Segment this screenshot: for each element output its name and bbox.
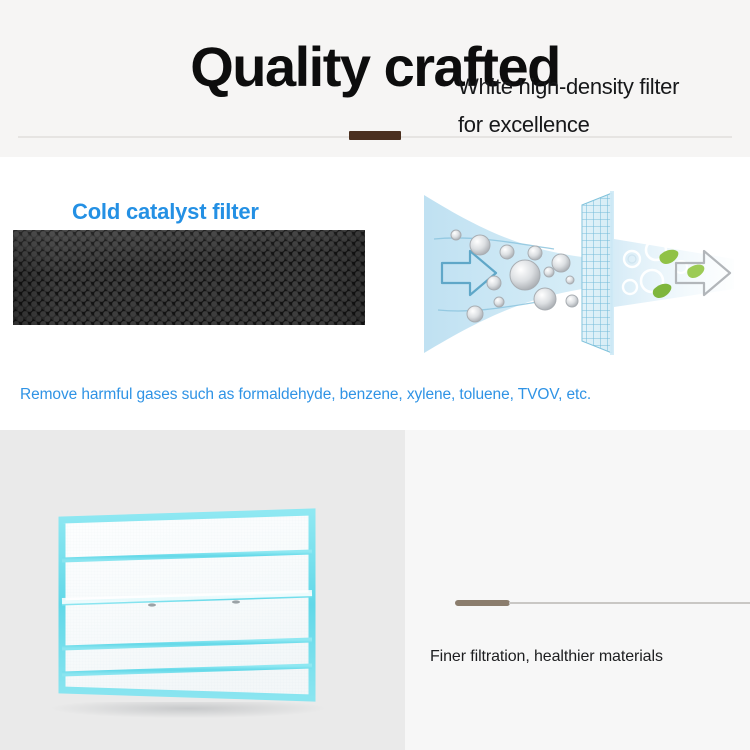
dirty-airflow-stream bbox=[424, 195, 582, 353]
divider-thin-line bbox=[509, 602, 750, 604]
white-filter-heading: White high-density filter for excellence bbox=[458, 68, 743, 144]
carbon-panel-sheen bbox=[13, 230, 365, 325]
white-filter-text-panel bbox=[405, 430, 750, 750]
product-feature-page: Quality crafted Cold catalyst filter bbox=[0, 0, 750, 750]
honeycomb-carbon-texture bbox=[13, 230, 365, 325]
white-filter-heading-line-1: White high-density filter bbox=[458, 68, 743, 106]
white-filter-photo-panel bbox=[0, 430, 405, 750]
airflow-filtration-diagram bbox=[404, 177, 740, 367]
filter-mesh-screen bbox=[582, 191, 614, 355]
white-filter-subtitle: Finer filtration, healthier materials bbox=[430, 648, 663, 666]
divider-accent-segment bbox=[455, 600, 510, 606]
clean-airflow-stream bbox=[614, 239, 734, 307]
cold-catalyst-section: Cold catalyst filter bbox=[0, 157, 750, 430]
cold-catalyst-title: Cold catalyst filter bbox=[72, 199, 259, 225]
white-filter-section bbox=[0, 430, 750, 750]
white-high-density-filter-photo bbox=[58, 508, 316, 706]
filter-drop-shadow bbox=[52, 702, 324, 718]
cold-catalyst-caption: Remove harmful gases such as formaldehyd… bbox=[20, 386, 591, 404]
header-accent-bar bbox=[349, 131, 401, 140]
white-filter-heading-line-2: for excellence bbox=[458, 106, 743, 144]
